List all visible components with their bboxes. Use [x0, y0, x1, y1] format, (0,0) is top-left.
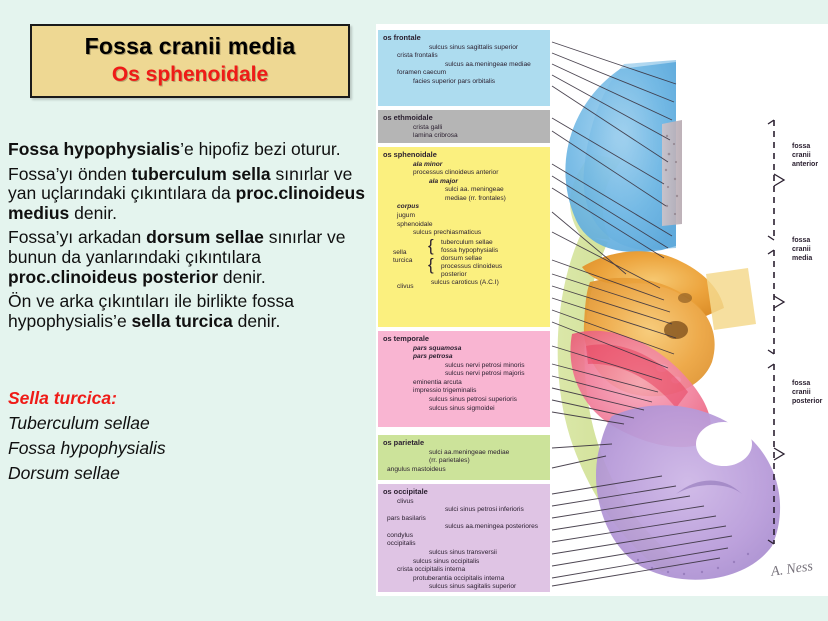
legend-box-ethmoidale: os ethmoidalecrista gallilamina cribrosa [378, 110, 550, 143]
legend-item: pars squamosa [383, 345, 546, 354]
legend-item: sulcus sinus occipitalis [383, 558, 546, 567]
legend-box-temporale: os temporalepars squamosapars petrosasul… [378, 331, 550, 427]
legend-box-parietale: os parietalesulci aa.meningeae mediae(rr… [378, 435, 550, 480]
fossa-label-line: posterior [792, 397, 828, 406]
legend-item: ala major [383, 178, 546, 187]
legend-heading-sphenoidale: os sphenoidale [383, 150, 546, 160]
fossa-label-line: fossa [792, 236, 828, 245]
legend-sella-turcica-label-line: turcica [393, 257, 412, 265]
legend-heading-parietale: os parietale [383, 438, 546, 448]
legend-item: fossa hypophysialis [441, 247, 502, 255]
figure-inner: os frontalesulcus sinus sagittalis super… [376, 24, 828, 596]
legend-box-sphenoidale: os sphenoidaleala minorprocessus clinoid… [378, 147, 550, 327]
legend-item: ala minor [383, 161, 546, 170]
ala-major-lateral [706, 268, 756, 330]
legend-item: jugum [383, 212, 546, 221]
legend-item: sphenoidale [383, 221, 546, 230]
page-subtitle: Os sphenoidale [32, 63, 348, 87]
legend-item: sulcus sinus transversii [383, 549, 546, 558]
legend-item: sulcus caroticus (A.C.I) [431, 279, 502, 287]
legend-item: eminentia arcuta [383, 379, 546, 388]
legend-item: pars basilaris [383, 515, 546, 524]
legend-item: clivus [383, 498, 546, 507]
emphasis-term: tuberculum sella [132, 164, 271, 184]
legend-sella-turcica-items: tuberculum sellaefossa hypophysialisdors… [441, 239, 502, 287]
legend-item: sulcus aa.meningeae mediae [383, 61, 546, 70]
body-paragraph: Fossa’yı önden tuberculum sella sınırlar… [8, 165, 376, 224]
legend-item: crista occipitalis interna [383, 566, 546, 575]
body-paragraph: Ön ve arka çıkıntıları ile birlikte foss… [8, 292, 376, 331]
fossa-label-line: fossa [792, 142, 828, 151]
sella-turcica-heading: Sella turcica: [8, 386, 368, 411]
lamina-cribrosa-region [662, 120, 682, 226]
legend-item: processus clinoideus anterior [383, 169, 546, 178]
legend-item: angulus mastoideus [383, 466, 546, 475]
legend-item: dorsum sellae [441, 255, 502, 263]
legend-item: posterior [441, 271, 502, 279]
legend-item: sulcus nervi petrosi majoris [383, 370, 546, 379]
body-paragraph: Fossa hypophysialis’e hipofiz bezi oturu… [8, 140, 376, 160]
brace-icon: { [428, 237, 434, 254]
emphasis-term: dorsum sellae [146, 227, 264, 247]
legend-sella-turcica-label: sellaturcica [393, 249, 412, 265]
body-run: denir. [218, 267, 266, 287]
legend-item: sulcus sinus sagitalis superior [383, 583, 546, 592]
fossa-label-line: media [792, 254, 828, 263]
emphasis-term: sella turcica [132, 311, 233, 331]
legend-heading-occipitale: os occipitale [383, 487, 546, 497]
label-fossa-cranii-anterior: fossacraniianterior [792, 142, 828, 169]
fossa-label-line: cranii [792, 245, 828, 254]
body-run: ’e hipofiz bezi oturur. [180, 139, 341, 159]
legend-item: facies superior pars orbitalis [383, 78, 546, 87]
fossa-label-line: cranii [792, 151, 828, 160]
legend-sella-turcica-label-line: sella [393, 249, 412, 257]
sella-turcica-items: Tuberculum sellaeFossa hypophysialisDors… [8, 411, 368, 486]
legend-item: mediae (rr. frontales) [383, 195, 546, 204]
fossa-label-line: anterior [792, 160, 828, 169]
legend-item: foramen caecum [383, 69, 546, 78]
fossa-cranii-posterior-region [596, 405, 780, 579]
legend-item: sulci sinus petrosi inferioris [383, 506, 546, 515]
emphasis-term: Fossa hypophysialis [8, 139, 180, 159]
legend-heading-ethmoidale: os ethmoidale [383, 113, 546, 123]
sella-turcica-list: Sella turcica: Tuberculum sellaeFossa hy… [8, 386, 368, 485]
legend-item: protuberantia occipitalis interna [383, 575, 546, 584]
fossa-hypophysialis [664, 321, 688, 339]
legend-heading-frontale: os frontale [383, 33, 546, 43]
label-fossa-cranii-posterior: fossacraniiposterior [792, 379, 828, 406]
slide-text-column: Fossa cranii media Os sphenoidale Fossa … [0, 0, 376, 621]
legend-item: occipitalis [383, 540, 546, 549]
legend-heading-temporale: os temporale [383, 334, 546, 344]
legend-box-frontale: os frontalesulcus sinus sagittalis super… [378, 30, 550, 106]
fossa-label-line: cranii [792, 388, 828, 397]
body-run: Fossa’yı arkadan [8, 227, 146, 247]
emphasis-term: proc.clinoideus posterior [8, 267, 218, 287]
legend-sella-turcica-group: sellaturcica{{tuberculum sellaefossa hyp… [383, 239, 546, 283]
legend-item: impressio trigeminalis [383, 387, 546, 396]
sulcus-prechiasmaticus [678, 293, 692, 303]
legend-item: lamina cribrosa [383, 132, 546, 141]
legend-item: sulci aa. meningeae [383, 186, 546, 195]
body-run: denir. [69, 203, 117, 223]
label-fossa-cranii-media: fossacraniimedia [792, 236, 828, 263]
anatomy-figure-panel: os frontalesulcus sinus sagittalis super… [376, 24, 828, 596]
sella-turcica-item: Fossa hypophysialis [8, 436, 368, 461]
legend-item: sulcus nervi petrosi minoris [383, 362, 546, 371]
legend-item: tuberculum sellae [441, 239, 502, 247]
sella-turcica-item: Dorsum sellae [8, 461, 368, 486]
legend-item: sulcus sinus sagittalis superior [383, 44, 546, 53]
legend-item: processus clinoideus [441, 263, 502, 271]
foramen-magnum [696, 422, 752, 466]
fossa-label-line: fossa [792, 379, 828, 388]
body-run: Fossa’yı önden [8, 164, 132, 184]
legend-item: sulcus sinus petrosi superioris [383, 396, 546, 405]
brace-icon: { [428, 256, 434, 273]
legend-item: (rr. parietales) [383, 457, 546, 466]
title-box: Fossa cranii media Os sphenoidale [30, 24, 350, 98]
legend-item: sulci aa.meningeae mediae [383, 449, 546, 458]
legend-box-occipitale: os occipitaleclivussulci sinus petrosi i… [378, 484, 550, 592]
legend-item: pars petrosa [383, 353, 546, 362]
body-run: denir. [233, 311, 281, 331]
legend-item: corpus [383, 203, 546, 212]
legend-item: crista galli [383, 124, 546, 133]
body-text: Fossa hypophysialis’e hipofiz bezi oturu… [8, 140, 376, 336]
page-title: Fossa cranii media [32, 33, 348, 60]
legend-item: crista frontalis [383, 52, 546, 61]
body-paragraph: Fossa’yı arkadan dorsum sellae sınırlar … [8, 228, 376, 287]
sella-turcica-item: Tuberculum sellae [8, 411, 368, 436]
legend-item: sulcus sinus sigmoidei [383, 405, 546, 414]
legend-item: sulcus prechiasmaticus [383, 229, 546, 238]
legend-item: condylus [383, 532, 546, 541]
legend-item: sulcus aa.meningea posteriores [383, 523, 546, 532]
